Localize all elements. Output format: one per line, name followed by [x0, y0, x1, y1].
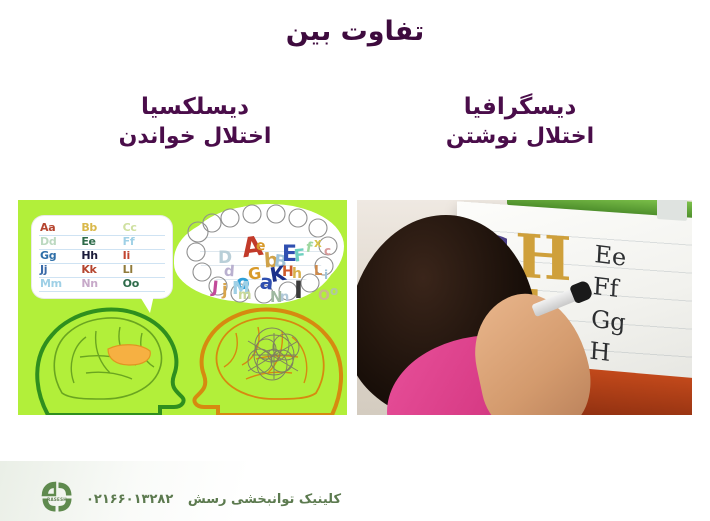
alphabet-speech-bubble: AaBbCcDdEeFfGgHhIiJjKkLlMmNnOo: [32, 216, 172, 298]
left-disorder-description: اختلال خواندن: [45, 122, 345, 151]
left-disorder-name: دیسلکسیا: [45, 92, 345, 122]
dyslexia-illustration-panel: AaBbCcDdEeFfGgHhIiJjKkLlMmNnOo AeDdbBEFf…: [18, 200, 347, 415]
alphabet-cell: Jj: [40, 263, 81, 276]
jumbled-letter: x: [314, 236, 322, 250]
jumbled-letter: F: [293, 245, 307, 266]
alphabet-cell: Kk: [81, 263, 122, 276]
clinic-name: کلینیک توانبخشی رسش: [188, 492, 341, 507]
alphabet-cell: Ii: [123, 249, 164, 262]
logo-caption: RASESH: [40, 497, 74, 502]
column-heading-left: دیسلکسیا اختلال خواندن: [45, 92, 345, 151]
jumbled-thought-cloud: AeDdbBEFfxcoGaKHhILiJjMmNnOo: [186, 208, 336, 302]
alphabet-cell: Dd: [40, 235, 81, 248]
handwritten-letter: Ee: [594, 238, 630, 274]
whiteboard-clip: [657, 200, 687, 221]
alphabet-cell: Bb: [81, 221, 122, 234]
handwritten-letters: EeFfGgH: [589, 238, 630, 371]
handwritten-letter: Gg: [590, 303, 626, 339]
jumbled-letter: f: [305, 240, 314, 257]
jumbled-letter: L: [314, 264, 322, 279]
alphabet-letter-grid: AaBbCcDdEeFfGgHhIiJjKkLlMmNnOo: [40, 220, 164, 294]
alphabet-cell: Ll: [123, 263, 164, 276]
jumbled-letter: i: [324, 268, 328, 282]
alphabet-cell: Ff: [123, 235, 164, 248]
footer: RASESH کلینیک توانبخشی رسش ۰۲۱۶۶۰۱۳۲۸۲: [0, 461, 710, 521]
jumbled-letter: c: [324, 244, 331, 258]
dysgraphia-photo-panel: G H h EeFfGgH: [357, 200, 692, 415]
right-disorder-description: اختلال نوشتن: [370, 122, 670, 151]
alphabet-cell: Gg: [40, 249, 81, 262]
orange-head-brain-icon: [186, 295, 347, 415]
right-disorder-name: دیسگرافیا: [370, 92, 670, 122]
alphabet-cell: Cc: [123, 221, 164, 234]
alphabet-cell: Ee: [81, 235, 122, 248]
clinic-phone: ۰۲۱۶۶۰۱۳۲۸۲: [86, 492, 173, 507]
handwritten-letter: Ff: [592, 270, 628, 306]
footer-contact: کلینیک توانبخشی رسش ۰۲۱۶۶۰۱۳۲۸۲: [86, 492, 341, 507]
alphabet-cell: Aa: [40, 221, 81, 234]
alphabet-cell: Oo: [123, 277, 164, 290]
alphabet-cell: Mm: [40, 277, 81, 290]
jumbled-letters: AeDdbBEFfxcoGaKHhILiJjMmNnOo: [198, 218, 324, 292]
alphabet-cell: Hh: [81, 249, 122, 262]
page-title: تفاوت بین: [0, 16, 710, 47]
handwritten-letter: H: [589, 335, 625, 371]
alphabet-cell: Nn: [81, 277, 122, 290]
column-heading-right: دیسگرافیا اختلال نوشتن: [370, 92, 670, 151]
green-head-brain-icon: [24, 297, 199, 415]
slide-root: تفاوت بین دیسلکسیا اختلال خواندن دیسگراف…: [0, 0, 710, 521]
